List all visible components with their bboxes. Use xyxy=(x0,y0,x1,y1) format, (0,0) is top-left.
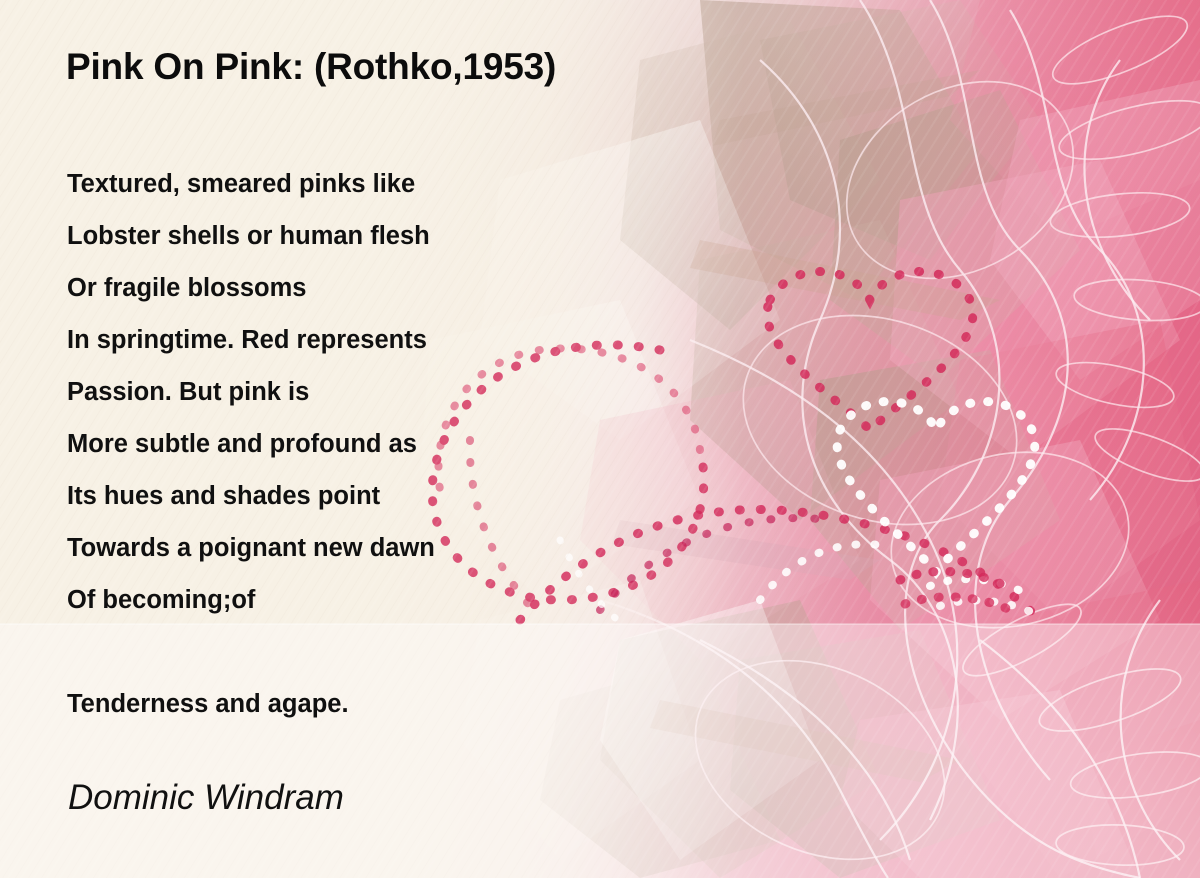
poem-line: Its hues and shades point xyxy=(67,470,435,522)
poem-line-blank xyxy=(67,626,435,678)
poem-content: Pink On Pink: (Rothko,1953) Textured, sm… xyxy=(0,0,1200,878)
poem-line: Tenderness and agape. xyxy=(67,678,435,730)
author-name: Dominic Windram xyxy=(68,778,344,818)
poem-line: Textured, smeared pinks like xyxy=(67,158,435,210)
poem-line: More subtle and profound as xyxy=(67,418,435,470)
poem-line: Passion. But pink is xyxy=(67,366,435,418)
poem-line: Of becoming;of xyxy=(67,574,435,626)
poem-line: Lobster shells or human flesh xyxy=(67,210,435,262)
page-title: Pink On Pink: (Rothko,1953) xyxy=(66,46,556,88)
poem-body: Textured, smeared pinks like Lobster she… xyxy=(67,158,435,730)
poem-line: In springtime. Red represents xyxy=(67,314,435,366)
poem-line: Towards a poignant new dawn xyxy=(67,522,435,574)
poem-card: Pink On Pink: (Rothko,1953) Textured, sm… xyxy=(0,0,1200,878)
poem-line: Or fragile blossoms xyxy=(67,262,435,314)
